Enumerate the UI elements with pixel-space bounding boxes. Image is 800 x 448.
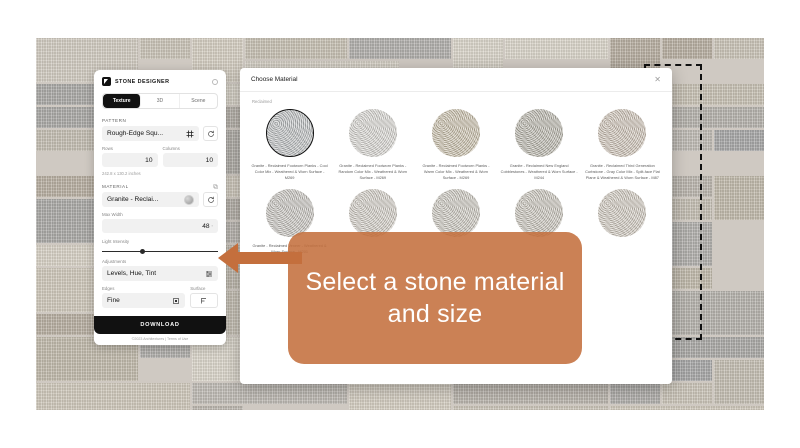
edges-label: Edges (102, 286, 185, 291)
material-swatch-icon (515, 189, 563, 237)
material-select[interactable]: Granite - Reclai... (102, 192, 199, 207)
material-swatch-icon (349, 189, 397, 237)
tab-scene[interactable]: Scene (180, 94, 217, 108)
columns-input[interactable]: 10 (163, 153, 219, 167)
material-card-label: Granite - Reclaimed Footworn Planks - Wa… (416, 163, 495, 181)
screenshot-root: STONE DESIGNER Texture 3D Scene PATTERN … (0, 0, 800, 448)
material-label-text: MATERIAL (102, 184, 129, 189)
material-card-label: Granite - Reclaimed New England Cobblest… (500, 163, 579, 181)
panel-title: STONE DESIGNER (115, 79, 208, 85)
stone-tile (662, 38, 712, 59)
pattern-select[interactable]: Rough-Edge Squ... (102, 126, 199, 141)
stone-tile (714, 360, 764, 404)
stone-tile (140, 38, 190, 59)
view-mode-tabs[interactable]: Texture 3D Scene (102, 93, 218, 109)
stone-tile (349, 383, 451, 410)
material-card[interactable]: Granite - Reclaimed Footworn Planks - Wa… (416, 109, 495, 181)
max-width-label: Max Width (102, 212, 218, 217)
edges-icon (172, 297, 180, 305)
rows-group[interactable]: Rows 10 (102, 146, 158, 167)
callout-text: Select a stone material and size (288, 266, 582, 330)
max-width-value: 48 (202, 223, 209, 230)
material-card[interactable]: Granite - Reclaimed Footworn Planks - Ra… (333, 109, 412, 181)
material-card[interactable] (583, 189, 662, 255)
stone-tile (505, 38, 607, 59)
adjustments-label: Adjustments (102, 259, 218, 264)
material-card-label: Granite - Reclaimed Footworn Planks - Co… (250, 163, 329, 181)
material-card[interactable]: Granite - Reclaimed New England Cobblest… (500, 109, 579, 181)
stone-tile (36, 383, 190, 410)
max-width-unit: " (212, 224, 213, 229)
download-button[interactable]: DOWNLOAD (94, 316, 226, 334)
material-section-label: MATERIAL (102, 184, 218, 189)
material-swatch-icon (598, 189, 646, 237)
surface-label: Surface (190, 286, 218, 291)
close-icon[interactable]: ✕ (654, 76, 661, 84)
sliders-icon (205, 270, 213, 278)
refresh-icon (207, 130, 215, 138)
material-swatch-icon (266, 109, 314, 157)
adjustments-select[interactable]: Levels, Hue, Tint (102, 266, 218, 281)
stone-tile (192, 406, 242, 410)
dimensions-readout: 242.8 x 130.2 inches (102, 171, 218, 176)
surface-button[interactable] (190, 293, 218, 308)
rows-label: Rows (102, 146, 158, 151)
pattern-refresh-button[interactable] (203, 126, 218, 141)
material-row[interactable]: Granite - Reclai... (102, 192, 218, 207)
stone-tile (245, 38, 347, 59)
stone-tile (349, 38, 451, 59)
material-refresh-button[interactable] (203, 192, 218, 207)
stone-tile (610, 383, 660, 404)
surface-icon (200, 297, 208, 305)
edges-group[interactable]: Edges Fine (102, 286, 185, 308)
material-swatch-icon (432, 189, 480, 237)
refresh-icon (207, 196, 215, 204)
material-swatch-icon (598, 109, 646, 157)
material-swatch-icon (349, 109, 397, 157)
material-card-grid[interactable]: Granite - Reclaimed Footworn Planks - Co… (240, 109, 672, 181)
slider-knob[interactable] (140, 249, 145, 254)
stone-tile (714, 176, 764, 220)
stone-tile (662, 84, 764, 105)
material-card-label: Granite - Reclaimed Third Generation Cur… (583, 163, 662, 181)
material-card-label: Granite - Reclaimed Footworn Planks - Ra… (333, 163, 412, 181)
pattern-grid-icon (186, 130, 194, 138)
max-width-input[interactable]: 48 " (102, 219, 218, 233)
surface-group[interactable]: Surface (190, 286, 218, 308)
edges-surface-row[interactable]: Edges Fine Surface (102, 286, 218, 308)
callout-tooltip: Select a stone material and size (288, 232, 582, 364)
status-circle-icon[interactable] (212, 79, 218, 85)
tab-texture[interactable]: Texture (103, 94, 141, 108)
stone-tile (662, 107, 764, 128)
stone-tile (662, 383, 712, 404)
stone-designer-logo-icon (102, 77, 111, 86)
edges-select[interactable]: Fine (102, 293, 185, 308)
columns-label: Columns (163, 146, 219, 151)
stone-designer-panel[interactable]: STONE DESIGNER Texture 3D Scene PATTERN … (94, 70, 226, 345)
adjustments-value: Levels, Hue, Tint (107, 270, 156, 277)
slider-track (102, 251, 218, 252)
tab-3d[interactable]: 3D (141, 94, 179, 108)
panel-footer[interactable]: ©2023 Architextures | Terms of Use (94, 334, 226, 345)
pattern-section-label: PATTERN (102, 118, 218, 123)
pattern-label-text: PATTERN (102, 118, 126, 123)
edges-value: Fine (107, 297, 120, 304)
columns-group[interactable]: Columns 10 (163, 146, 219, 167)
modal-title: Choose Material (251, 76, 298, 83)
material-group-label: Reclaimed (240, 92, 672, 109)
light-intensity-label: Light Intensity (102, 239, 218, 244)
material-swatch-icon (515, 109, 563, 157)
pattern-row[interactable]: Rough-Edge Squ... (102, 126, 218, 141)
rows-input[interactable]: 10 (102, 153, 158, 167)
stone-tile (610, 406, 764, 410)
stone-tile (714, 38, 764, 59)
material-swatch-icon (266, 189, 314, 237)
material-swatch-icon (432, 109, 480, 157)
rows-columns-row[interactable]: Rows 10 Columns 10 (102, 146, 218, 167)
modal-header: Choose Material ✕ (240, 68, 672, 92)
material-swatch-icon (184, 195, 194, 205)
stone-tile (453, 406, 607, 410)
pattern-value: Rough-Edge Squ... (107, 130, 163, 137)
material-value: Granite - Reclai... (107, 196, 158, 203)
material-card[interactable]: Granite - Reclaimed Footworn Planks - Co… (250, 109, 329, 181)
copy-icon[interactable] (213, 184, 218, 189)
stone-tile (192, 383, 346, 404)
panel-header: STONE DESIGNER (102, 77, 218, 86)
material-card[interactable]: Granite - Reclaimed Third Generation Cur… (583, 109, 662, 181)
stone-tile (714, 130, 764, 151)
light-intensity-slider[interactable] (102, 246, 218, 256)
